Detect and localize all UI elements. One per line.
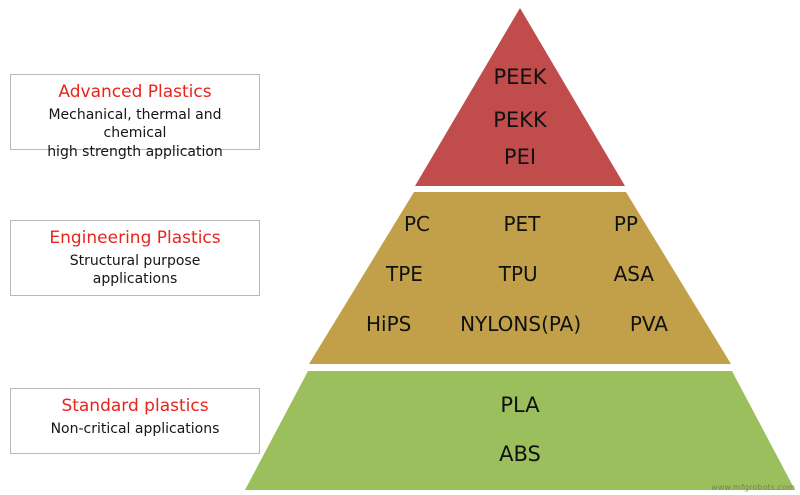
tier-standard-row-1: PLA bbox=[390, 393, 650, 417]
material-label: TPE bbox=[386, 262, 423, 286]
tier-engineering-row-3: HiPS NYLONS(PA) PVA bbox=[366, 312, 668, 336]
legend-desc-line: high strength application bbox=[17, 143, 253, 161]
legend-title-engineering-plastics: Engineering Plastics bbox=[17, 228, 253, 249]
material-label: NYLONS(PA) bbox=[460, 312, 581, 336]
tier-advanced-row-1: PEEK bbox=[400, 65, 640, 89]
material-label: ASA bbox=[614, 262, 654, 286]
legend-box-standard-plastics: Standard plastics Non-critical applicati… bbox=[10, 388, 260, 454]
tier-engineering-row-1: PC PET PP bbox=[404, 212, 638, 236]
material-label: TPU bbox=[499, 262, 538, 286]
legend-desc-line: Non-critical applications bbox=[17, 420, 253, 438]
material-label: PVA bbox=[630, 312, 668, 336]
legend-box-advanced-plastics: Advanced Plastics Mechanical, thermal an… bbox=[10, 74, 260, 150]
tier-engineering-row-2: TPE TPU ASA bbox=[386, 262, 654, 286]
tier-advanced-row-2: PEKK bbox=[400, 108, 640, 132]
legend-desc-line: applications bbox=[17, 270, 253, 288]
tier-standard-row-2: ABS bbox=[390, 442, 650, 466]
legend-desc-line: Mechanical, thermal and chemical bbox=[17, 106, 253, 142]
legend-title-advanced-plastics: Advanced Plastics bbox=[17, 82, 253, 103]
material-label: PC bbox=[404, 212, 430, 236]
legend-title-standard-plastics: Standard plastics bbox=[17, 396, 253, 417]
pyramid-tier-standard bbox=[245, 371, 795, 490]
legend-desc-engineering-plastics: Structural purpose applications bbox=[17, 252, 253, 288]
legend-desc-line: Structural purpose bbox=[17, 252, 253, 270]
material-label: PP bbox=[614, 212, 638, 236]
material-label: HiPS bbox=[366, 312, 411, 336]
watermark-text: www.mfgrobots.com bbox=[711, 483, 795, 492]
legend-desc-standard-plastics: Non-critical applications bbox=[17, 420, 253, 438]
tier-advanced-row-3: PEI bbox=[400, 145, 640, 169]
legend-box-engineering-plastics: Engineering Plastics Structural purpose … bbox=[10, 220, 260, 296]
diagram-canvas: PEEK PEKK PEI PC PET PP TPE TPU ASA HiPS… bbox=[0, 0, 800, 495]
legend-desc-advanced-plastics: Mechanical, thermal and chemical high st… bbox=[17, 106, 253, 161]
material-label: PET bbox=[503, 212, 540, 236]
